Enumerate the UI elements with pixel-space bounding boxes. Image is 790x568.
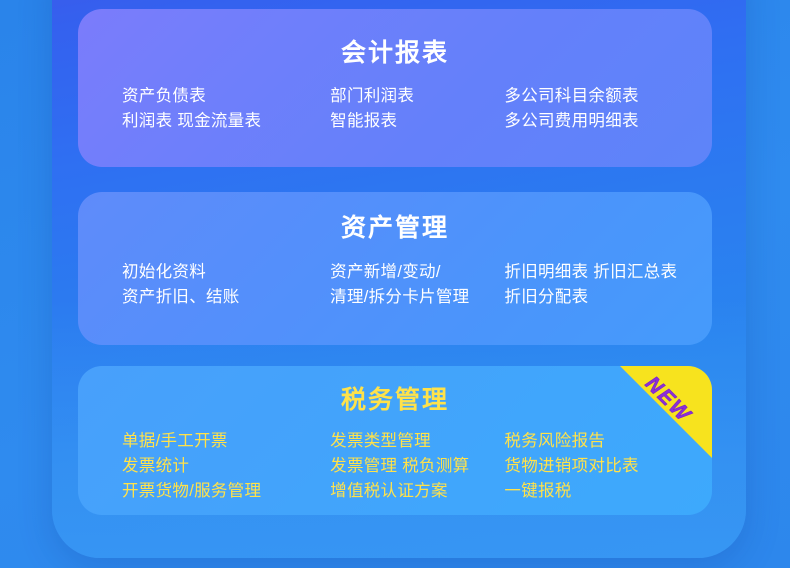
feature-item[interactable]: 利润表 现金流量表 (122, 109, 330, 134)
card-title: 会计报表 (78, 9, 712, 66)
feature-item[interactable]: 增值税认证方案 (330, 479, 504, 504)
feature-item[interactable]: 单据/手工开票 (122, 429, 330, 454)
card-column-1: 资产负债表 利润表 现金流量表 (122, 84, 330, 134)
card-columns: 单据/手工开票 发票统计 开票货物/服务管理 发票类型管理 发票管理 税负测算 … (78, 413, 712, 504)
feature-card-asset-management[interactable]: 资产管理 初始化资料 资产折旧、结账 资产新增/变动/ 清理/拆分卡片管理 折旧… (78, 192, 712, 345)
card-columns: 资产负债表 利润表 现金流量表 部门利润表 智能报表 多公司科目余额表 多公司费… (78, 66, 712, 134)
card-column-2: 发票类型管理 发票管理 税负测算 增值税认证方案 (330, 429, 504, 504)
card-column-2: 部门利润表 智能报表 (330, 84, 504, 134)
card-title: 税务管理 (78, 366, 712, 413)
feature-item[interactable]: 发票统计 (122, 454, 330, 479)
feature-item[interactable]: 开票货物/服务管理 (122, 479, 330, 504)
feature-item[interactable]: 资产折旧、结账 (122, 285, 330, 310)
card-column-1: 单据/手工开票 发票统计 开票货物/服务管理 (122, 429, 330, 504)
card-columns: 初始化资料 资产折旧、结账 资产新增/变动/ 清理/拆分卡片管理 折旧明细表 折… (78, 241, 712, 310)
card-column-3: 折旧明细表 折旧汇总表 折旧分配表 (504, 260, 698, 310)
page-stage: 会计报表 资产负债表 利润表 现金流量表 部门利润表 智能报表 多公司科目余额表… (0, 0, 790, 568)
feature-card-tax-management[interactable]: 税务管理 单据/手工开票 发票统计 开票货物/服务管理 发票类型管理 发票管理 … (78, 366, 712, 515)
new-corner-badge: NEW (620, 366, 712, 458)
feature-item[interactable]: 多公司费用明细表 (504, 109, 698, 134)
feature-item[interactable]: 折旧明细表 折旧汇总表 (504, 260, 698, 285)
feature-item[interactable]: 初始化资料 (122, 260, 330, 285)
feature-item[interactable]: 清理/拆分卡片管理 (330, 285, 504, 310)
card-column-3: 多公司科目余额表 多公司费用明细表 (504, 84, 698, 134)
feature-item[interactable]: 折旧分配表 (504, 285, 698, 310)
feature-card-accounting-reports[interactable]: 会计报表 资产负债表 利润表 现金流量表 部门利润表 智能报表 多公司科目余额表… (78, 9, 712, 167)
feature-item[interactable]: 多公司科目余额表 (504, 84, 698, 109)
feature-item[interactable]: 发票管理 税负测算 (330, 454, 504, 479)
card-column-1: 初始化资料 资产折旧、结账 (122, 260, 330, 310)
feature-item[interactable]: 资产新增/变动/ (330, 260, 504, 285)
card-column-2: 资产新增/变动/ 清理/拆分卡片管理 (330, 260, 504, 310)
feature-item[interactable]: 部门利润表 (330, 84, 504, 109)
feature-item[interactable]: 资产负债表 (122, 84, 330, 109)
feature-item[interactable]: 一键报税 (504, 479, 698, 504)
feature-item[interactable]: 发票类型管理 (330, 429, 504, 454)
feature-item[interactable]: 智能报表 (330, 109, 504, 134)
card-title: 资产管理 (78, 192, 712, 241)
